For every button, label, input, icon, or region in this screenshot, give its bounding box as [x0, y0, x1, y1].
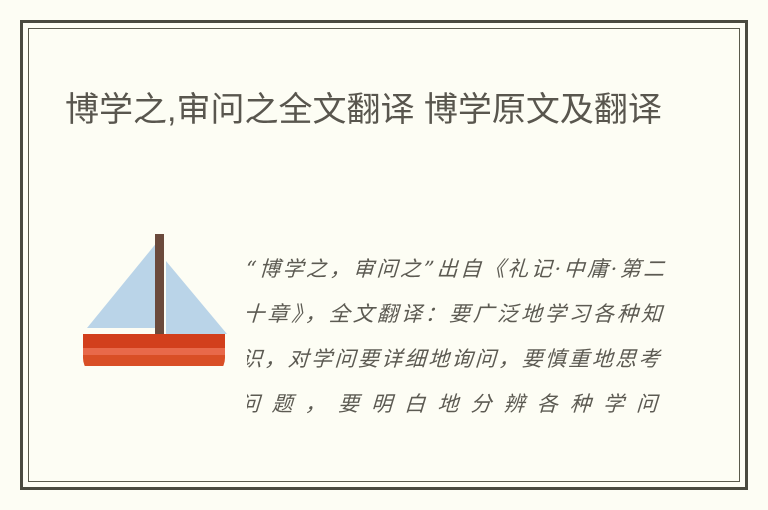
article-card-inner-border: 博学之,审问之全文翻译 博学原文及翻译	[28, 28, 740, 482]
article-text-container: “博学之，审问之”出自《礼记·中庸·第二十章》，全文翻译：要广泛地学习各种知识，…	[247, 226, 679, 466]
article-card: 博学之,审问之全文翻译 博学原文及翻译	[20, 20, 748, 490]
article-paragraph: “博学之，审问之”出自《礼记·中庸·第二十章》，全文翻译：要广泛地学习各种知识，…	[247, 247, 667, 427]
page-title: 博学之,审问之全文翻译 博学原文及翻译	[65, 84, 665, 136]
sailboat-icon	[79, 216, 229, 366]
article-body: “博学之，审问之”出自《礼记·中庸·第二十章》，全文翻译：要广泛地学习各种知识，…	[29, 204, 739, 481]
